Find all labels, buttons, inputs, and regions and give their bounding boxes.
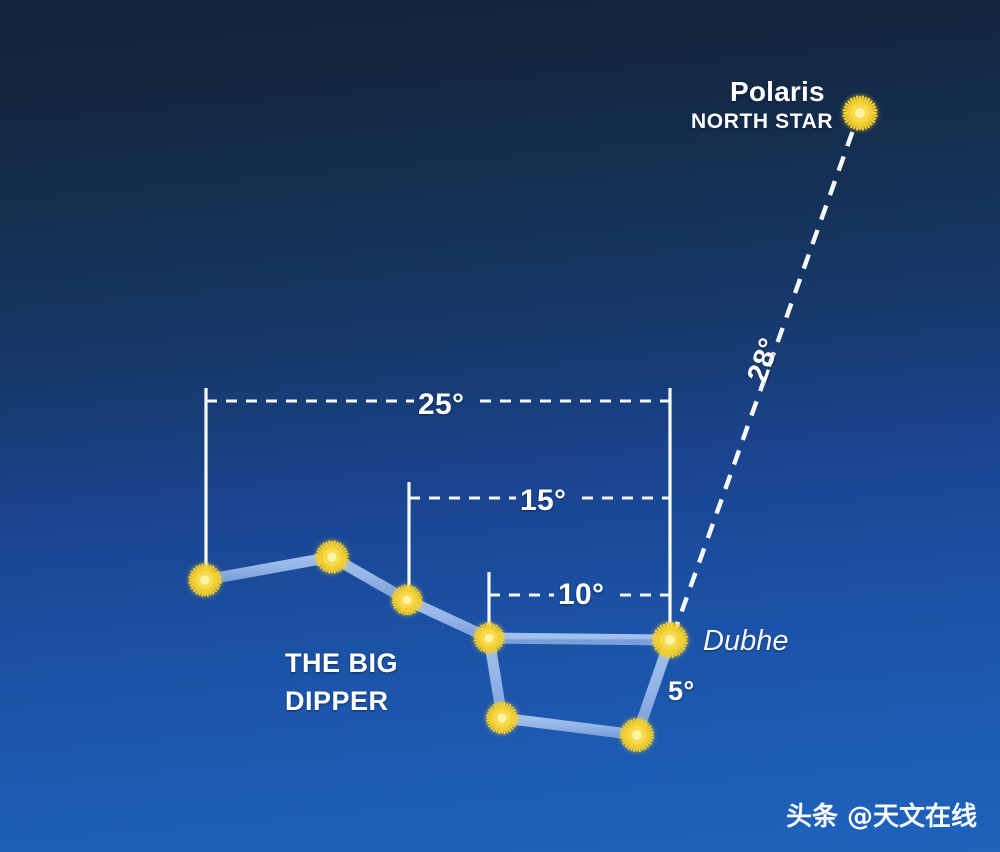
star-megrez	[474, 623, 503, 652]
dubhe-label: Dubhe	[703, 625, 788, 658]
segment-megrez-dubhe	[489, 638, 670, 640]
star-polaris	[844, 97, 877, 130]
polaris-label: Polaris	[730, 76, 825, 108]
big-dipper-label-line1: THE BIG	[285, 648, 398, 679]
star-phecda	[487, 703, 517, 733]
star-alkaid	[189, 564, 220, 595]
measurement-label-5: 5°	[668, 676, 694, 707]
constellation-svg	[0, 0, 1000, 852]
big-dipper-label-line2: DIPPER	[285, 686, 389, 717]
measurement-label-15: 15°	[520, 484, 566, 518]
measurement-label-25: 25°	[418, 388, 464, 422]
watermark: 头条 @天文在线	[786, 796, 977, 833]
measurement-label-10: 10°	[558, 578, 604, 612]
diagram-canvas: 25° 15° 10° 5° 28° Polaris NORTH STAR Du…	[0, 0, 1000, 852]
north-star-label: NORTH STAR	[691, 110, 833, 134]
star-mizar	[316, 541, 347, 572]
segment-alkaid-mizar	[205, 557, 332, 580]
star-dubhe	[653, 623, 687, 657]
segment-phecda-merak	[502, 718, 637, 735]
star-merak	[621, 719, 653, 751]
star-alioth	[392, 585, 421, 614]
